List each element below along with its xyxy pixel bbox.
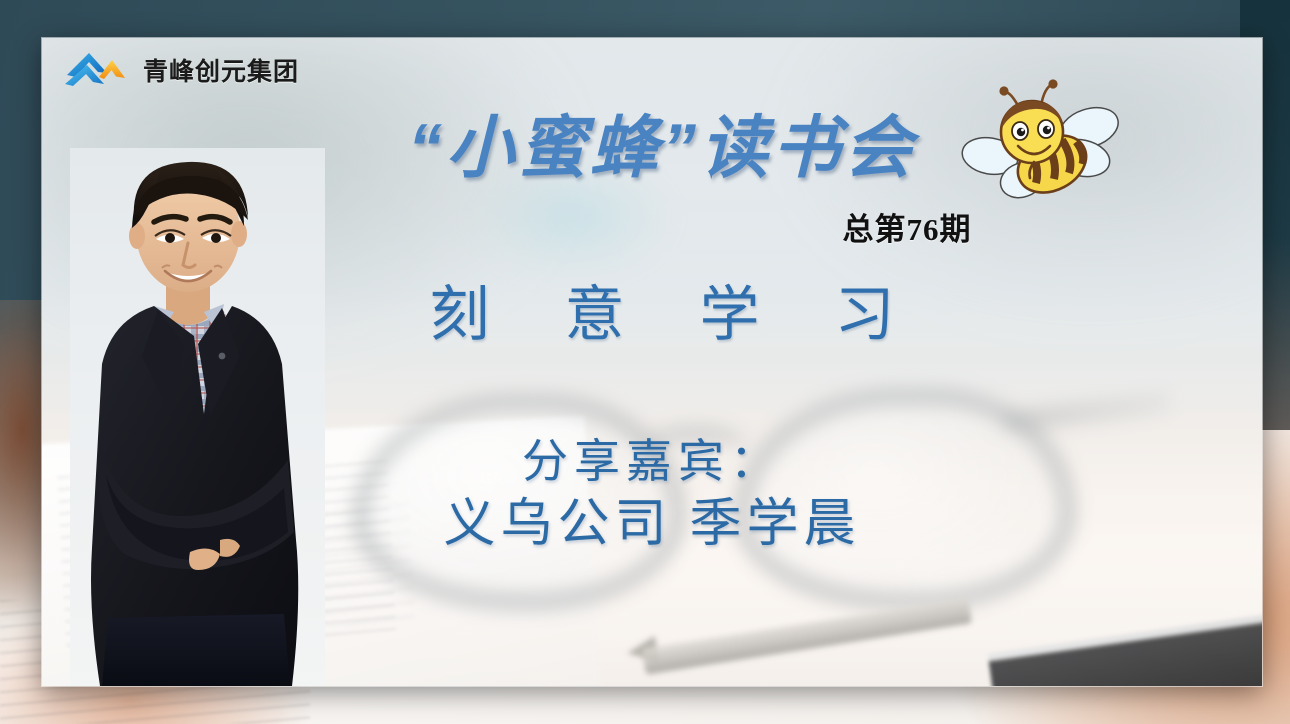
presenter-figure (70, 148, 325, 686)
screenshot-canvas: 青峰创元集团 “小蜜蜂”读书会 (0, 0, 1290, 724)
guest-name: 义乌公司 季学晨 (322, 492, 982, 559)
page-title: “小蜜蜂”读书会 (342, 114, 982, 182)
brand-header: 青峰创元集团 (64, 50, 299, 90)
slide-frame: 青峰创元集团 “小蜜蜂”读书会 (42, 38, 1262, 686)
guest-label: 分享嘉宾： (322, 433, 982, 492)
guest-block: 分享嘉宾： 义乌公司 季学晨 (322, 433, 982, 558)
cartoon-bee-icon (954, 76, 1129, 201)
topic-title: 刻 意 学 习 (342, 266, 982, 353)
presenter-portrait-photo (70, 148, 325, 686)
brand-name: 青峰创元集团 (143, 52, 299, 88)
mountain-peaks-logo-icon (64, 50, 126, 90)
issue-number: 总第76期 (797, 204, 1017, 249)
